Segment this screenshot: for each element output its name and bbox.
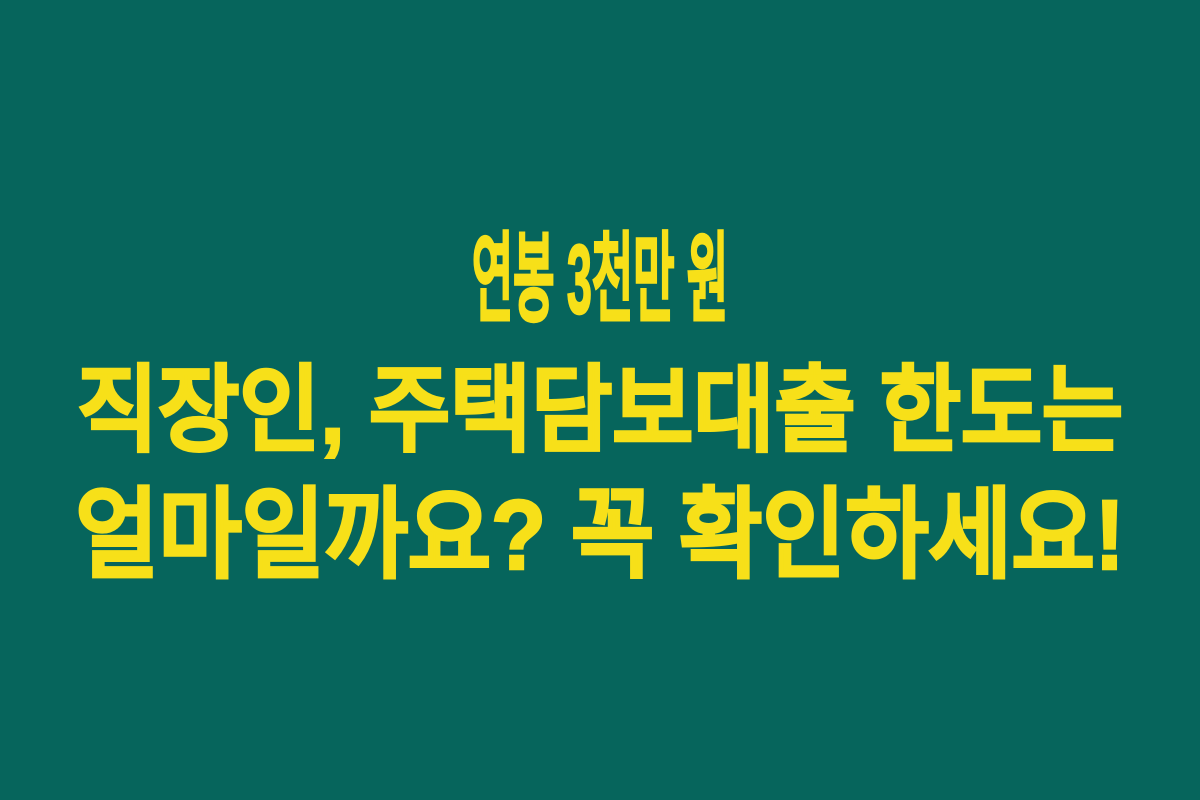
headline-line-3: 얼마일까요? 꼭 확인하세요! <box>57 477 1143 594</box>
thumbnail-canvas: 연봉 3천만 원 직장인, 주택담보대출 한도는 얼마일까요? 꼭 확인하세요! <box>0 0 1200 800</box>
headline-line-2: 직장인, 주택담보대출 한도는 <box>48 355 1152 467</box>
headline-line-1: 연봉 3천만 원 <box>327 222 872 338</box>
headline-text-block: 연봉 3천만 원 직장인, 주택담보대출 한도는 얼마일까요? 꼭 확인하세요! <box>0 222 1200 595</box>
